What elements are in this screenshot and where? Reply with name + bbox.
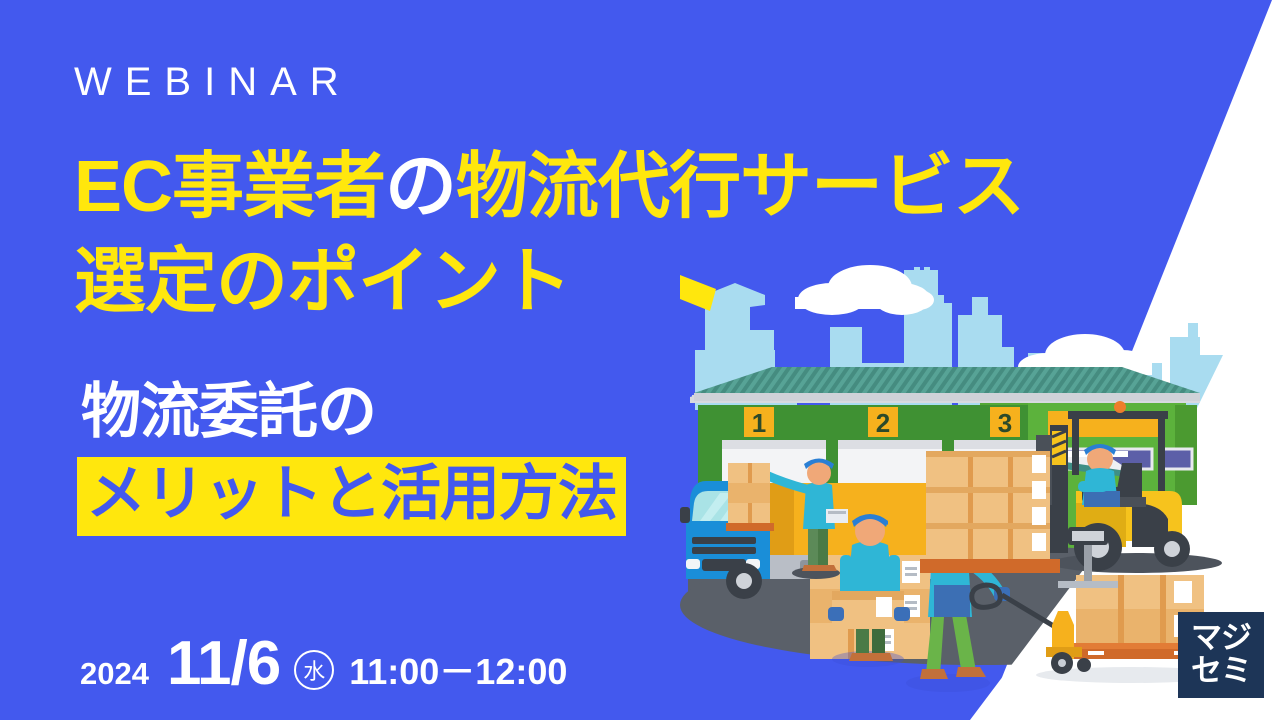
- subtitle-line-1: 物流委託の: [77, 378, 626, 445]
- schedule-time: 11:00－12:00: [349, 643, 567, 695]
- eyebrow-webinar: WEBINAR: [74, 62, 352, 102]
- subtitle-highlight: メリットと活用方法: [77, 457, 626, 536]
- title-line-2: 選定のポイント: [74, 235, 1024, 330]
- title-segment-1: EC事業者: [74, 147, 385, 227]
- svg-text:1: 1: [752, 408, 766, 438]
- logo-line-2: セミ: [1191, 655, 1251, 688]
- svg-text:3: 3: [998, 408, 1012, 438]
- schedule-year: 2024: [80, 656, 149, 692]
- title-segment-2: の: [385, 147, 456, 227]
- title-segment-3: 物流代行サービス: [456, 147, 1024, 227]
- webinar-banner: 1 2 3: [0, 0, 1280, 720]
- majisemi-logo: マジ セミ: [1178, 612, 1264, 698]
- svg-text:2: 2: [876, 408, 890, 438]
- schedule-date: 11/6: [167, 628, 280, 699]
- logo-line-1: マジ: [1191, 622, 1251, 655]
- page-title: EC事業者の物流代行サービス 選定のポイント: [74, 140, 1024, 330]
- title-line-1: EC事業者の物流代行サービス: [74, 140, 1024, 235]
- subtitle: 物流委託の メリットと活用方法: [77, 378, 626, 536]
- schedule-day-of-week: 水: [294, 650, 334, 690]
- schedule: 2024 11/6 水 11:00－12:00: [80, 628, 567, 699]
